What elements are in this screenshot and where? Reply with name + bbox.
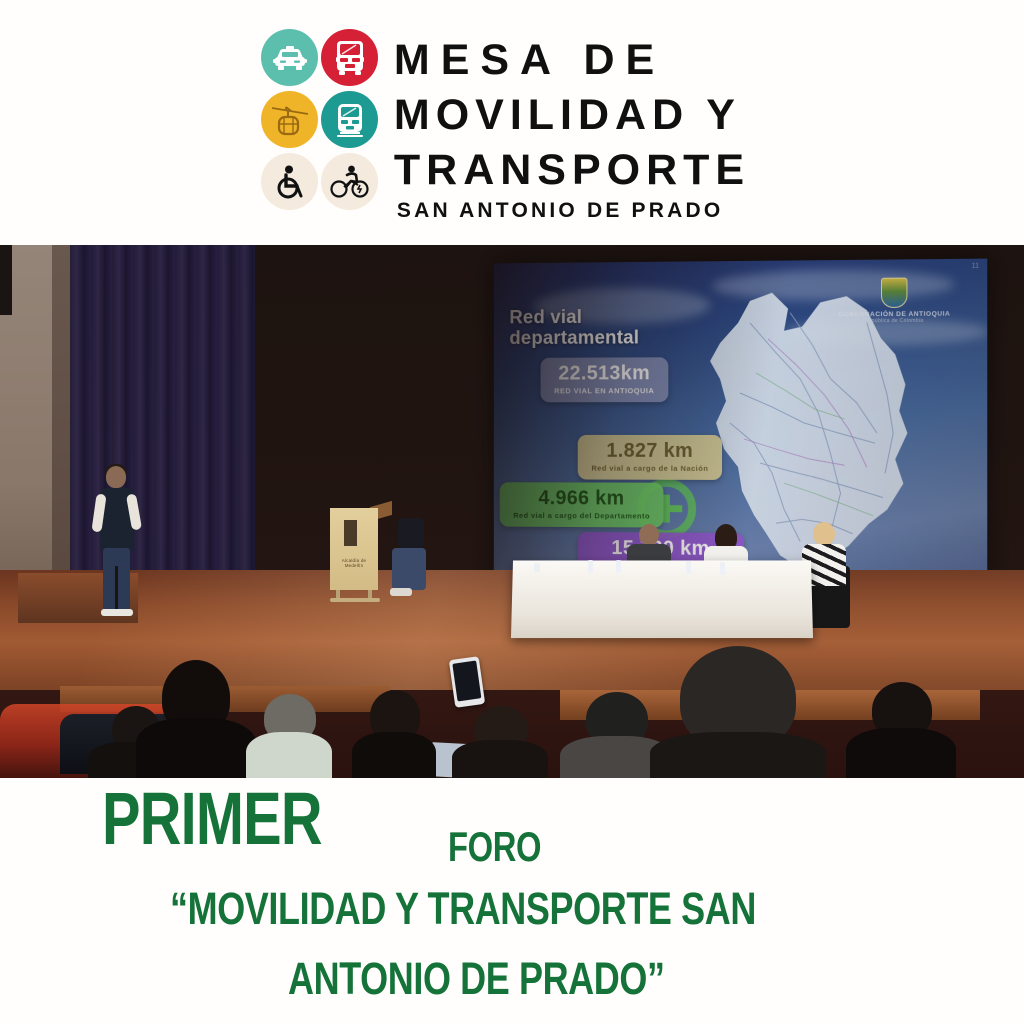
footer-primer: PRIMER xyxy=(102,782,322,856)
logo-icon-grid xyxy=(260,27,380,213)
audience-shoulders xyxy=(846,728,956,778)
water-bottle xyxy=(720,562,725,575)
slide-stat-caption: Red vial a cargo de la Nación xyxy=(591,464,708,473)
metro-train-icon xyxy=(321,91,378,148)
seated-person-legs xyxy=(392,548,426,590)
wheelchair-icon xyxy=(261,153,318,210)
gobernacion-subtitle: República de Colombia xyxy=(838,318,950,325)
audience-member xyxy=(846,682,956,778)
slide-number: 11 xyxy=(972,263,979,270)
podium: Alcaldía de Medellín xyxy=(330,498,390,603)
taxi-icon xyxy=(261,29,318,86)
presenter-figure xyxy=(92,466,142,616)
icon-cell-cablecar xyxy=(260,89,320,151)
icon-cell-metro xyxy=(320,89,380,151)
slide-title: Red vial departamental xyxy=(509,308,639,349)
water-bottle xyxy=(686,561,691,574)
panel-table xyxy=(511,560,813,638)
audience-shoulders xyxy=(452,740,548,778)
logo-lockup: MESA DE MOVILIDAD Y TRANSPORTE SAN ANTON… xyxy=(260,25,750,221)
podium-base xyxy=(330,598,380,602)
water-bottle xyxy=(616,560,621,573)
bus-icon xyxy=(321,29,378,86)
audience-shoulders xyxy=(650,732,826,778)
icon-cell-wheelchair xyxy=(260,151,320,213)
phone-screen xyxy=(452,661,481,702)
footer-title-line-2: ANTONIO DE PRADO” xyxy=(288,956,665,1001)
audience-phone xyxy=(449,656,485,708)
coat-of-arms-icon xyxy=(881,278,907,308)
slide-stat-value: 4.966 km xyxy=(513,488,650,509)
poster-footer: PRIMER FORO “MOVILIDAD Y TRANSPORTE SAN … xyxy=(0,778,1024,1024)
slide-stat-departamento: 4.966 km Red vial a cargo del Departamen… xyxy=(500,482,664,527)
slide-stat-value: 22.513km xyxy=(554,363,654,384)
wordmark-subtitle: SAN ANTONIO DE PRADO xyxy=(394,200,724,221)
audience-member xyxy=(136,660,256,778)
icon-cell-ebike xyxy=(320,151,380,213)
slide-stat-nacion: 1.827 km Red vial a cargo de la Nación xyxy=(578,435,723,480)
panelist-head xyxy=(639,524,659,546)
logo-wordmark: MESA DE MOVILIDAD Y TRANSPORTE SAN ANTON… xyxy=(394,25,750,221)
audience-shoulders xyxy=(136,718,256,778)
footer-foro: FORO xyxy=(448,826,541,868)
event-photo: Red vial departamental 22.513km RED VIAL… xyxy=(0,245,1024,778)
podium-panel xyxy=(344,520,357,546)
cablecar-icon xyxy=(261,91,318,148)
ebike-icon xyxy=(321,153,378,210)
slide-stat-total: 22.513km RED VIAL EN ANTIOQUIA xyxy=(541,357,669,402)
podium-sign: Alcaldía de Medellín xyxy=(334,558,374,568)
water-bottle xyxy=(588,560,593,573)
slide-stat-value: 1.827 km xyxy=(591,441,708,462)
audience-member xyxy=(650,646,826,778)
audience-shoulders xyxy=(246,732,332,778)
audience-shoulders xyxy=(352,732,436,778)
wordmark-line-2: MOVILIDAD Y xyxy=(394,94,741,137)
slide-stat-caption: Red vial a cargo del Departamento xyxy=(513,511,650,521)
slide-title-line-2: departamental xyxy=(509,328,639,349)
wordmark-line-3: TRANSPORTE xyxy=(394,149,750,192)
presenter-shoes xyxy=(101,609,133,616)
slide-title-line-1: Red vial xyxy=(509,308,639,329)
panelist-head xyxy=(813,522,835,546)
drinking-glass xyxy=(534,563,540,572)
footer-title-line-1: “MOVILIDAD Y TRANSPORTE SAN xyxy=(170,886,756,931)
audience-member xyxy=(452,698,548,778)
presenter-leg-gap xyxy=(115,566,118,610)
seated-person-behind-podium xyxy=(392,518,428,600)
gobernacion-logo: GOBERNACIÓN DE ANTIOQUIA República de Co… xyxy=(838,277,950,324)
seated-person-shoe xyxy=(390,588,412,596)
wall-speaker xyxy=(0,245,12,315)
slide-stat-caption: RED VIAL EN ANTIOQUIA xyxy=(554,386,654,395)
seated-person-torso xyxy=(398,518,424,548)
presenter-head xyxy=(106,466,126,488)
icon-cell-taxi xyxy=(260,27,320,89)
wordmark-line-1: MESA DE xyxy=(394,39,665,82)
audience-member xyxy=(352,690,436,778)
audience-member xyxy=(246,694,332,778)
icon-cell-bus xyxy=(320,27,380,89)
poster-header: MESA DE MOVILIDAD Y TRANSPORTE SAN ANTON… xyxy=(0,0,1024,245)
poster-canvas: MESA DE MOVILIDAD Y TRANSPORTE SAN ANTON… xyxy=(0,0,1024,1024)
